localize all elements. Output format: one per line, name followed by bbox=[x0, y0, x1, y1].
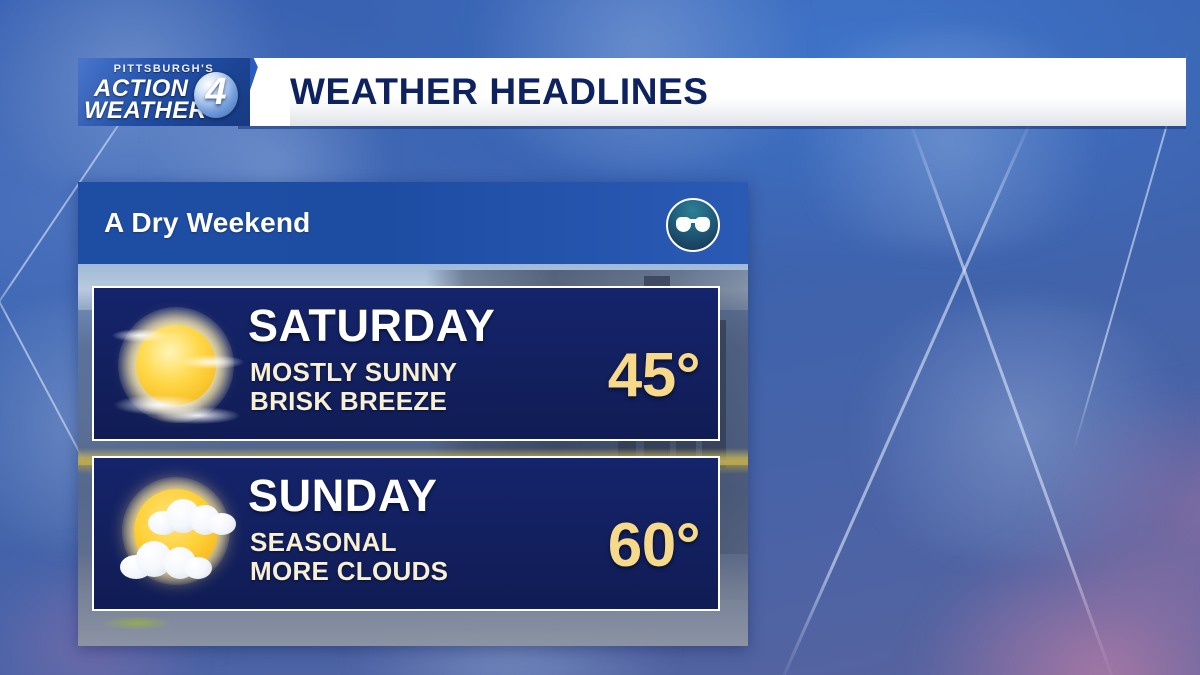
sunglasses-icon bbox=[666, 198, 720, 252]
condition-line-1: SEASONAL bbox=[250, 528, 448, 557]
forecast-row-sunday: SUNDAY SEASONAL MORE CLOUDS 60° bbox=[92, 456, 720, 611]
sunglasses-bridge bbox=[689, 219, 697, 223]
condition-line-2: MORE CLOUDS bbox=[250, 557, 448, 586]
sunglasses-glyph bbox=[676, 217, 710, 234]
cloud-lower bbox=[120, 539, 212, 579]
background-magenta-glow bbox=[700, 325, 1200, 675]
condition-line-1: MOSTLY SUNNY bbox=[250, 358, 457, 387]
day-condition-saturday: MOSTLY SUNNY BRISK BREEZE bbox=[250, 358, 457, 417]
day-name-sunday: SUNDAY bbox=[248, 470, 438, 522]
cloud-puff bbox=[184, 557, 212, 579]
page-title: WEATHER HEADLINES bbox=[290, 58, 709, 126]
sun-behind-clouds-icon bbox=[110, 469, 242, 601]
cloud-wisp bbox=[112, 329, 168, 342]
day-temperature-sunday: 60° bbox=[608, 510, 700, 581]
photo-foliage bbox=[102, 616, 172, 630]
forecast-panel: A Dry Weekend SATURDA bbox=[78, 182, 748, 646]
sun-icon bbox=[110, 299, 242, 431]
city-skyline-photo: SATURDAY MOSTLY SUNNY BRISK BREEZE 45° bbox=[78, 264, 748, 646]
logo-action-text: ACTION bbox=[94, 75, 188, 103]
weather-headlines-header: PITTSBURGH'S ACTION WEATHER 4 WEATHER HE… bbox=[78, 58, 1186, 126]
station-logo: PITTSBURGH'S ACTION WEATHER 4 bbox=[78, 58, 250, 126]
cloud-puff bbox=[208, 513, 236, 535]
cloud-wisp bbox=[156, 407, 240, 424]
logo-channel-number: 4 bbox=[194, 71, 238, 114]
day-condition-sunday: SEASONAL MORE CLOUDS bbox=[250, 528, 448, 587]
condition-line-2: BRISK BREEZE bbox=[250, 387, 457, 416]
cloud-wisp bbox=[180, 355, 244, 369]
forecast-row-saturday: SATURDAY MOSTLY SUNNY BRISK BREEZE 45° bbox=[92, 286, 720, 441]
day-temperature-saturday: 45° bbox=[608, 340, 700, 411]
sunglasses-right-lens bbox=[695, 217, 710, 232]
forecast-headline: A Dry Weekend bbox=[104, 182, 310, 264]
cloud-upper bbox=[148, 499, 236, 535]
logo-channel-4-badge: 4 bbox=[194, 72, 238, 118]
day-name-saturday: SATURDAY bbox=[248, 300, 495, 352]
logo-weather-text: WEATHER bbox=[84, 97, 206, 125]
